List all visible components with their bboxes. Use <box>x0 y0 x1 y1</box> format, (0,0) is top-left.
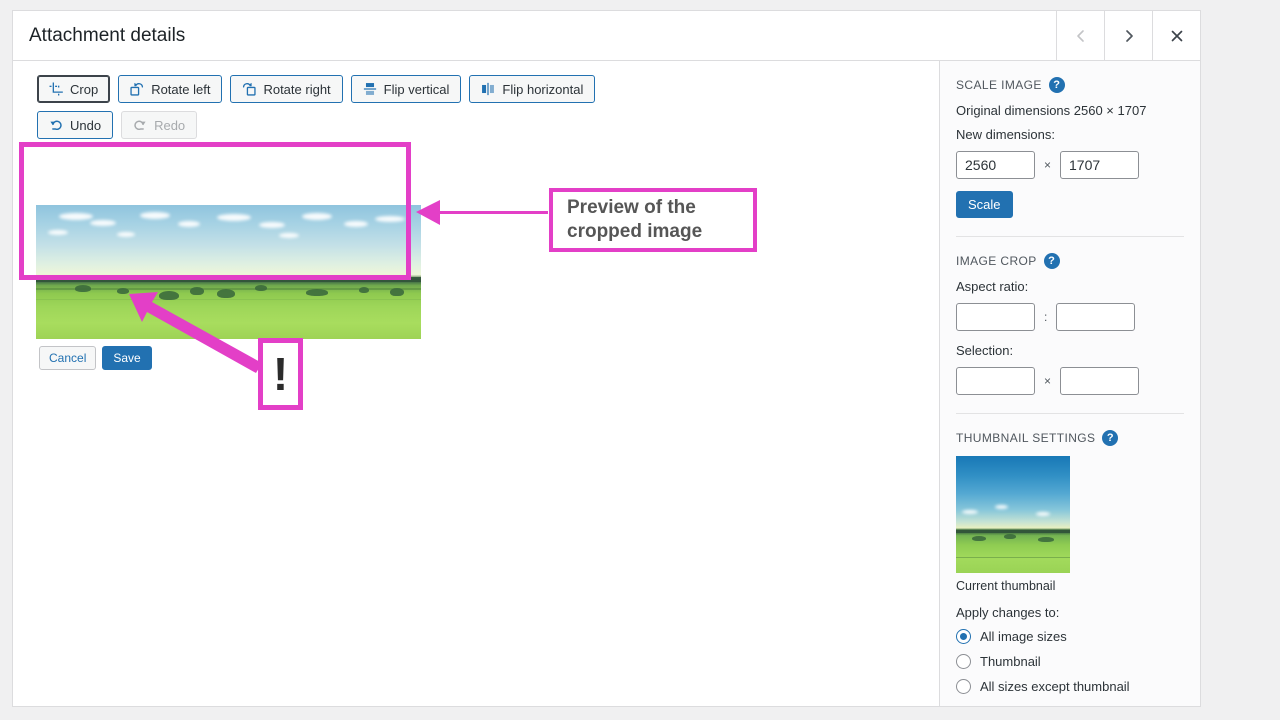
help-icon[interactable]: ? <box>1049 77 1065 93</box>
selection-label: Selection: <box>956 343 1184 358</box>
aspect-ratio-fields: : <box>956 303 1184 331</box>
image-crop-title: IMAGE CROP <box>956 254 1037 268</box>
new-dimensions-label: New dimensions: <box>956 127 1184 142</box>
apply-changes-label: Apply changes to: <box>956 605 1184 620</box>
radio-all-sizes-except-thumbnail[interactable]: All sizes except thumbnail <box>956 679 1184 694</box>
selection-separator: × <box>1044 374 1051 388</box>
rotate-right-icon <box>242 82 256 96</box>
aspect-ratio-label: Aspect ratio: <box>956 279 1184 294</box>
dimension-separator: × <box>1044 158 1051 172</box>
radio-button-icon[interactable] <box>956 679 971 694</box>
selection-height-input[interactable] <box>1060 367 1139 395</box>
rotate-right-button[interactable]: Rotate right <box>230 75 342 103</box>
image-preview-container[interactable] <box>36 205 421 339</box>
rotate-left-button[interactable]: Rotate left <box>118 75 222 103</box>
current-thumbnail-caption: Current thumbnail <box>956 579 1184 593</box>
cancel-button[interactable]: Cancel <box>39 346 96 370</box>
aspect-ratio-separator: : <box>1044 310 1047 324</box>
page-title: Attachment details <box>13 11 1056 60</box>
new-dimensions-fields: × <box>956 151 1184 179</box>
radio-all-sizes-except-thumbnail-label: All sizes except thumbnail <box>980 679 1130 694</box>
chevron-left-icon <box>1074 29 1088 43</box>
rotate-left-button-label: Rotate left <box>151 83 210 96</box>
aspect-ratio-height-input[interactable] <box>1056 303 1135 331</box>
next-attachment-button[interactable] <box>1104 11 1152 60</box>
flip-vertical-button-label: Flip vertical <box>384 83 450 96</box>
cropped-image-preview[interactable] <box>36 205 421 339</box>
rotate-left-icon <box>130 82 144 96</box>
close-icon <box>1170 29 1184 43</box>
radio-all-image-sizes-label: All image sizes <box>980 629 1067 644</box>
chevron-right-icon <box>1122 29 1136 43</box>
selection-fields: × <box>956 367 1184 395</box>
scale-image-heading: SCALE IMAGE ? <box>956 77 1184 93</box>
crop-button-label: Crop <box>70 83 98 96</box>
editor-action-row: Cancel Save <box>39 346 152 370</box>
image-crop-heading: IMAGE CROP ? <box>956 253 1184 269</box>
image-crop-section: IMAGE CROP ? Aspect ratio: : Selection: … <box>956 236 1184 413</box>
current-thumbnail-image <box>956 456 1070 573</box>
radio-thumbnail-label: Thumbnail <box>980 654 1041 669</box>
undo-button[interactable]: Undo <box>37 111 113 139</box>
crop-icon <box>49 82 63 96</box>
editor-toolbar-row-history: Undo Redo <box>37 111 939 139</box>
selection-width-input[interactable] <box>956 367 1035 395</box>
editor-toolbar-row-transform: Crop Rotate left <box>37 75 939 103</box>
flip-horizontal-icon <box>481 82 495 96</box>
flip-vertical-icon <box>363 82 377 96</box>
crop-button[interactable]: Crop <box>37 75 110 103</box>
radio-all-image-sizes[interactable]: All image sizes <box>956 629 1184 644</box>
flip-vertical-button[interactable]: Flip vertical <box>351 75 462 103</box>
save-button[interactable]: Save <box>102 346 151 370</box>
redo-button-label: Redo <box>154 119 185 132</box>
radio-button-icon[interactable] <box>956 629 971 644</box>
scale-image-section: SCALE IMAGE ? Original dimensions 2560 ×… <box>956 61 1184 236</box>
flip-horizontal-button[interactable]: Flip horizontal <box>469 75 595 103</box>
scale-image-title: SCALE IMAGE <box>956 78 1042 92</box>
close-modal-button[interactable] <box>1152 11 1200 60</box>
rotate-right-button-label: Rotate right <box>263 83 330 96</box>
thumbnail-settings-heading: THUMBNAIL SETTINGS ? <box>956 430 1184 446</box>
undo-button-label: Undo <box>70 119 101 132</box>
thumbnail-settings-title: THUMBNAIL SETTINGS <box>956 431 1095 445</box>
attachment-settings-sidebar: SCALE IMAGE ? Original dimensions 2560 ×… <box>939 61 1200 706</box>
thumbnail-settings-section: THUMBNAIL SETTINGS ? Current thumbnail A… <box>956 413 1184 706</box>
image-editor-pane: Crop Rotate left <box>13 61 939 706</box>
flip-horizontal-button-label: Flip horizontal <box>502 83 583 96</box>
modal-body: Crop Rotate left <box>13 61 1200 706</box>
radio-button-icon[interactable] <box>956 654 971 669</box>
scale-height-input[interactable] <box>1060 151 1139 179</box>
redo-icon <box>133 118 147 132</box>
scale-button[interactable]: Scale <box>956 191 1013 218</box>
original-dimensions-text: Original dimensions 2560 × 1707 <box>956 103 1184 118</box>
redo-button: Redo <box>121 111 197 139</box>
scale-width-input[interactable] <box>956 151 1035 179</box>
modal-header: Attachment details <box>13 11 1200 61</box>
previous-attachment-button[interactable] <box>1056 11 1104 60</box>
aspect-ratio-width-input[interactable] <box>956 303 1035 331</box>
help-icon[interactable]: ? <box>1102 430 1118 446</box>
attachment-details-modal: Attachment details <box>12 10 1201 707</box>
help-icon[interactable]: ? <box>1044 253 1060 269</box>
undo-icon <box>49 118 63 132</box>
radio-thumbnail[interactable]: Thumbnail <box>956 654 1184 669</box>
